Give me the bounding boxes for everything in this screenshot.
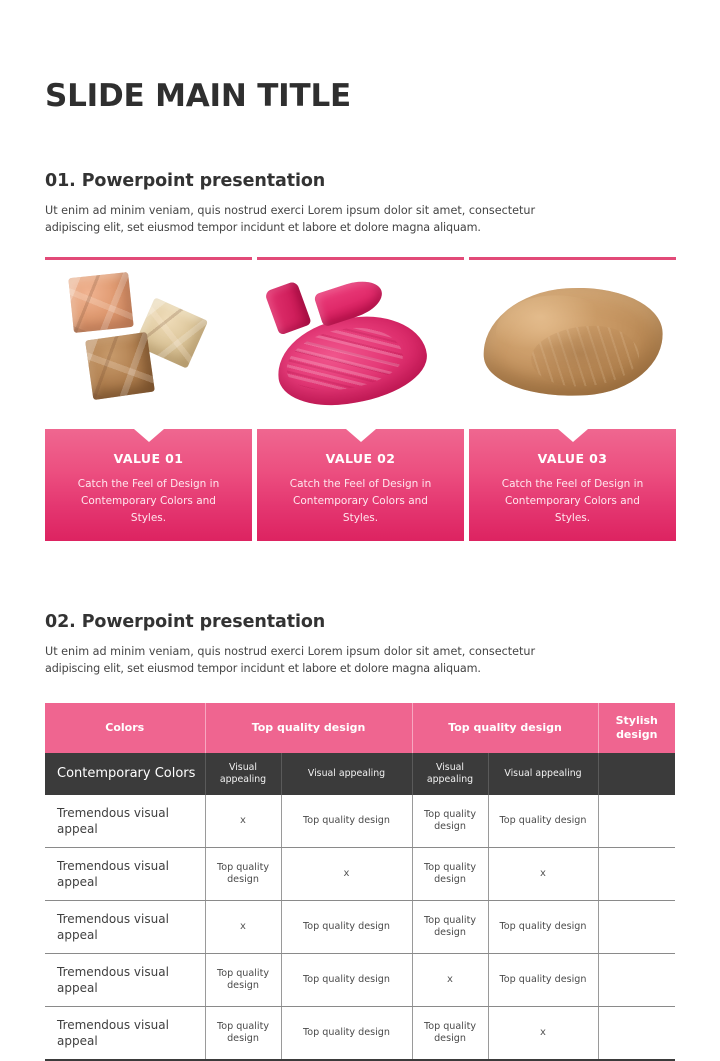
row-5-col-3: Top quality design [412,1007,488,1061]
header-stylish-design[interactable]: Stylish design [598,703,675,753]
value-card-02-text: Catch the Feel of Design in Contemporary… [257,476,464,527]
value-card-02[interactable]: VALUE 02 Catch the Feel of Design in Con… [257,429,464,541]
eyeshadow-chip-bronze [85,332,155,400]
row-3-col-5 [598,901,675,954]
subheader-contemporary-colors: Contemporary Colors [45,753,205,795]
section-02-body: Ut enim ad minim veniam, quis nostrud ex… [45,643,675,677]
row-5-col-4: x [488,1007,598,1061]
card-notch-icon [558,429,588,442]
row-1-col-3: Top quality design [412,795,488,848]
row-4-col-1: Top quality design [205,954,281,1007]
value-card-03[interactable]: VALUE 03 Catch the Feel of Design in Con… [469,429,676,541]
table-subheader-row: Contemporary Colors Visual appealing Vis… [45,753,675,795]
row-4-col-4: Top quality design [488,954,598,1007]
row-4-col-2: Top quality design [281,954,412,1007]
row-5-col-5 [598,1007,675,1061]
row-2-col-2: x [281,848,412,901]
subheader-visual-appealing-4: Visual appealing [488,753,598,795]
divider-rule-2 [257,257,464,260]
value-card-01-text: Catch the Feel of Design in Contemporary… [45,476,252,527]
section-01-body-line2: adipiscing elit, set eiusmod tempor inci… [45,219,675,236]
header-top-quality-design-2[interactable]: Top quality design [412,703,598,753]
section-02-body-line2: adipiscing elit, set eiusmod tempor inci… [45,660,675,677]
value-card-01[interactable]: VALUE 01 Catch the Feel of Design in Con… [45,429,252,541]
card-notch-icon [346,429,376,442]
section-01-body: Ut enim ad minim veniam, quis nostrud ex… [45,202,675,236]
section-02-body-line1: Ut enim ad minim veniam, quis nostrud ex… [45,643,675,660]
lipstick-cap-shape [264,281,312,336]
divider-rule-3 [469,257,676,260]
divider-rule-1 [45,257,252,260]
row-3-col-4: Top quality design [488,901,598,954]
table-subheader-dark: Contemporary Colors Visual appealing Vis… [45,753,675,795]
row-5-col-1: Top quality design [205,1007,281,1061]
row-2-col-5 [598,848,675,901]
card-notch-icon [134,429,164,442]
row-3-col-1: x [205,901,281,954]
table-header-row: Colors Top quality design Top quality de… [45,703,675,753]
subheader-visual-appealing-1: Visual appealing [205,753,281,795]
header-colors[interactable]: Colors [45,703,205,753]
section-02-heading: 02. Powerpoint presentation [45,612,325,632]
value-card-02-title: VALUE 02 [257,451,464,466]
row-4-col-3: x [412,954,488,1007]
value-card-03-title: VALUE 03 [469,451,676,466]
table-row[interactable]: Tremendous visual appeal Top quality des… [45,848,675,901]
slide-page: SLIDE MAIN TITLE 01. Powerpoint presenta… [0,0,720,1040]
row-4-col-5 [598,954,675,1007]
header-top-quality-design-1[interactable]: Top quality design [205,703,412,753]
row-2-col-1: Top quality design [205,848,281,901]
subheader-empty [598,753,675,795]
row-2-col-3: Top quality design [412,848,488,901]
value-card-03-text: Catch the Feel of Design in Contemporary… [469,476,676,527]
row-1-col-4: Top quality design [488,795,598,848]
section-01-heading: 01. Powerpoint presentation [45,171,325,191]
row-1-col-2: Top quality design [281,795,412,848]
comparison-table: Colors Top quality design Top quality de… [45,703,675,1061]
table-body: Tremendous visual appeal x Top quality d… [45,795,675,1060]
table-row[interactable]: Tremendous visual appeal Top quality des… [45,1007,675,1061]
row-1-col-1: x [205,795,281,848]
row-5-col-2: Top quality design [281,1007,412,1061]
row-2-col-4: x [488,848,598,901]
foundation-swirl-image [469,266,676,421]
table-row[interactable]: Tremendous visual appeal x Top quality d… [45,795,675,848]
row-3-col-2: Top quality design [281,901,412,954]
section-01-body-line1: Ut enim ad minim veniam, quis nostrud ex… [45,202,675,219]
row-2-label: Tremendous visual appeal [45,848,205,901]
row-4-label: Tremendous visual appeal [45,954,205,1007]
page-title: SLIDE MAIN TITLE [45,78,351,114]
row-5-label: Tremendous visual appeal [45,1007,205,1061]
table-header-pink: Colors Top quality design Top quality de… [45,703,675,753]
row-1-col-5 [598,795,675,848]
row-1-label: Tremendous visual appeal [45,795,205,848]
foundation-blob-shape [479,282,666,402]
eyeshadow-chip-peach [68,272,133,333]
value-card-01-title: VALUE 01 [45,451,252,466]
subheader-visual-appealing-3: Visual appealing [412,753,488,795]
eyeshadow-crumbles-image [45,266,252,421]
table-row[interactable]: Tremendous visual appeal Top quality des… [45,954,675,1007]
row-3-col-3: Top quality design [412,901,488,954]
subheader-visual-appealing-2: Visual appealing [281,753,412,795]
row-3-label: Tremendous visual appeal [45,901,205,954]
table-row[interactable]: Tremendous visual appeal x Top quality d… [45,901,675,954]
lipstick-smear-image [257,266,464,421]
